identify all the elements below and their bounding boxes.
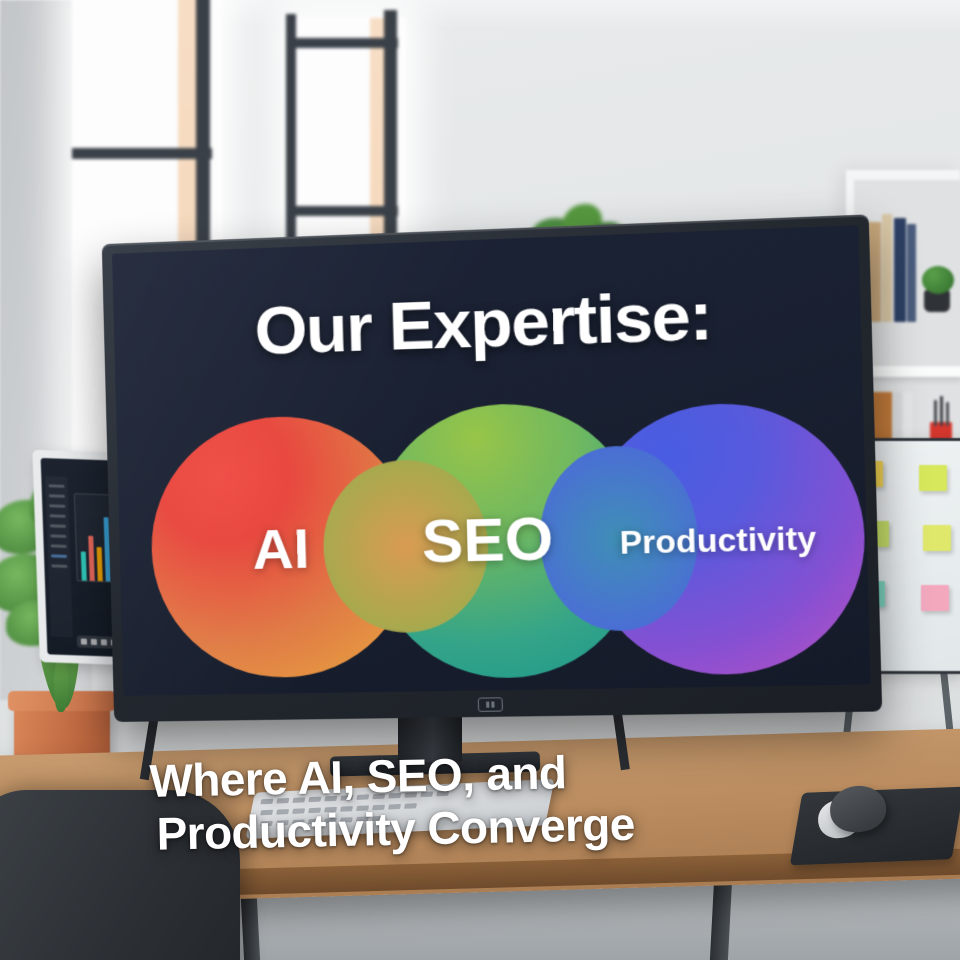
sticky-note <box>921 585 949 611</box>
caption-overlay: Where AI, SEO, and Productivity Converge <box>149 741 811 862</box>
pen-1 <box>934 400 937 426</box>
book-steel <box>907 224 916 322</box>
monitor-screen[interactable]: Our Expertise: AI SEO Productivity <box>112 225 871 696</box>
venn-diagram: AI SEO Productivity <box>142 394 851 693</box>
sticky-note <box>923 525 951 551</box>
venn-label-productivity: Productivity <box>619 519 816 562</box>
venn-label-seo: SEO <box>421 503 554 576</box>
office-scene: Our Expertise: AI SEO Productivity <box>0 0 960 960</box>
venn-label-ai: AI <box>252 515 311 582</box>
book-cream <box>882 214 892 322</box>
pen-2 <box>940 396 943 426</box>
sticky-note <box>919 465 947 491</box>
slide-title: Our Expertise: <box>113 271 861 375</box>
monitor-brand-logo <box>478 697 503 712</box>
window-right-transom <box>286 206 398 216</box>
shelf-plant <box>922 266 954 294</box>
monitor-bezel: Our Expertise: AI SEO Productivity <box>102 214 882 722</box>
window-left-transom <box>72 148 212 159</box>
monitor[interactable]: Our Expertise: AI SEO Productivity <box>102 214 882 722</box>
pen-3 <box>946 402 949 426</box>
book-navy <box>894 218 906 322</box>
window-right-header <box>286 38 398 48</box>
